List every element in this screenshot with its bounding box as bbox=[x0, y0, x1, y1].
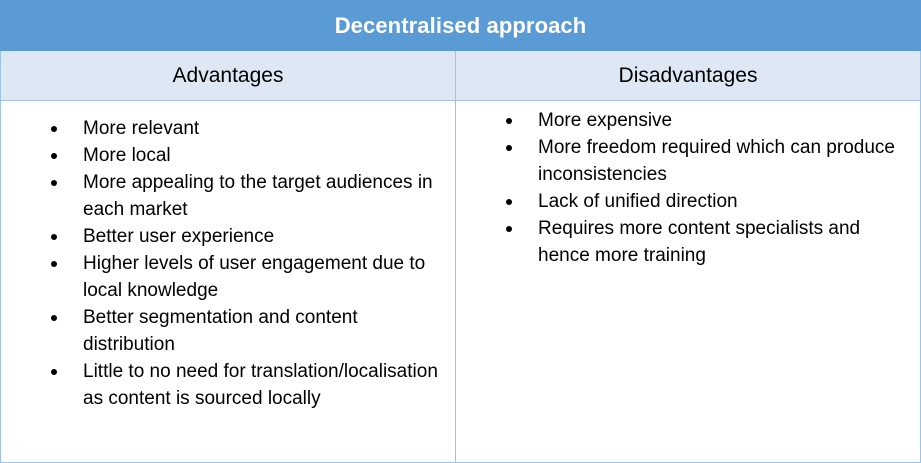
comparison-table: Decentralised approach Advantages Disadv… bbox=[0, 0, 921, 463]
list-item: Requires more content specialists and he… bbox=[506, 215, 900, 269]
table-body-row: More relevantMore localMore appealing to… bbox=[0, 100, 921, 463]
column-header-advantages: Advantages bbox=[1, 51, 455, 100]
list-item: More local bbox=[51, 142, 441, 169]
table-title-bar: Decentralised approach bbox=[0, 0, 921, 51]
list-item: Better segmentation and content distribu… bbox=[51, 304, 441, 358]
list-item: More freedom required which can produce … bbox=[506, 134, 900, 188]
table-header-row: Advantages Disadvantages bbox=[0, 51, 921, 100]
list-item: Better user experience bbox=[51, 223, 441, 250]
list-item: More appealing to the target audiences i… bbox=[51, 169, 441, 223]
advantages-list: More relevantMore localMore appealing to… bbox=[1, 101, 455, 412]
disadvantages-cell: More expensiveMore freedom required whic… bbox=[455, 101, 920, 462]
column-header-disadvantages: Disadvantages bbox=[455, 51, 920, 100]
disadvantages-list: More expensiveMore freedom required whic… bbox=[456, 101, 920, 269]
advantages-cell: More relevantMore localMore appealing to… bbox=[1, 101, 455, 462]
list-item: Higher levels of user engagement due to … bbox=[51, 250, 441, 304]
list-item: Little to no need for translation/locali… bbox=[51, 358, 441, 412]
column-header-advantages-label: Advantages bbox=[173, 65, 284, 86]
page-title: Decentralised approach bbox=[335, 15, 587, 37]
list-item: More expensive bbox=[506, 107, 900, 134]
list-item: Lack of unified direction bbox=[506, 188, 900, 215]
list-item: More relevant bbox=[51, 115, 441, 142]
column-header-disadvantages-label: Disadvantages bbox=[619, 65, 758, 86]
